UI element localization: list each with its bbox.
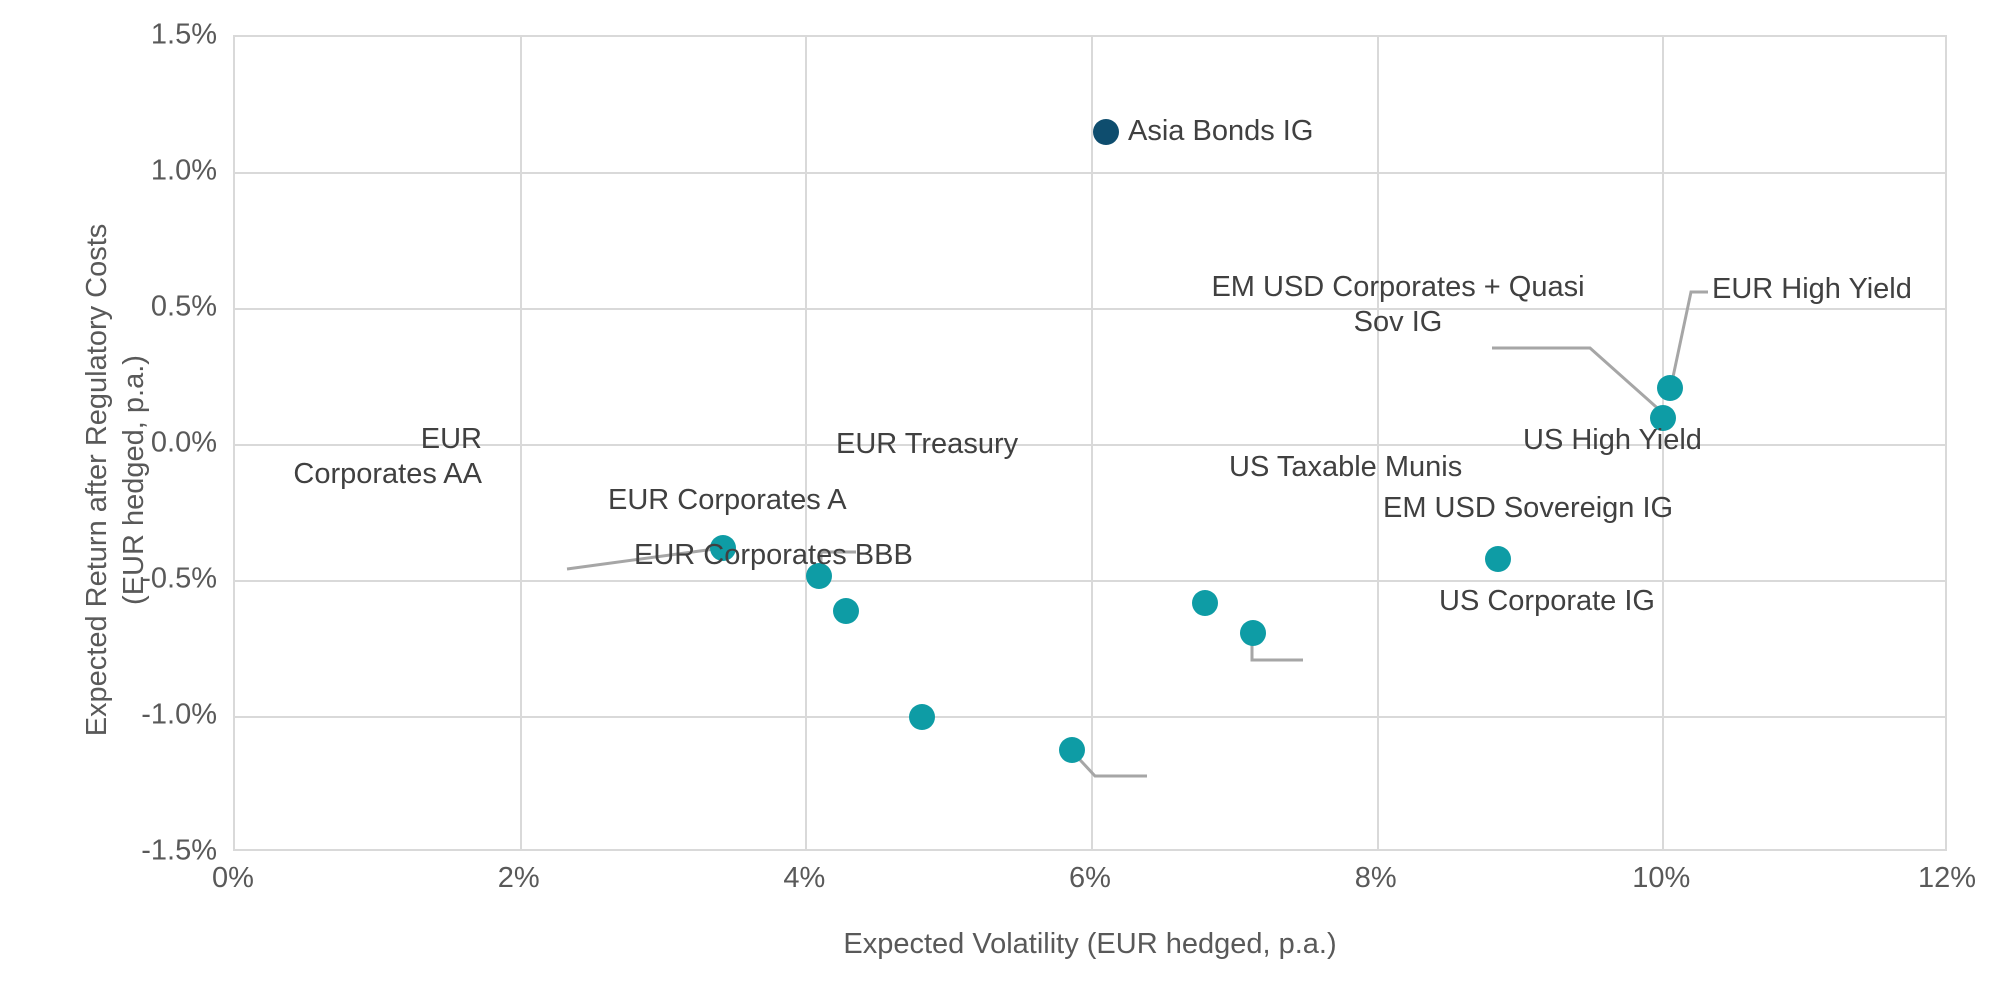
x-axis-tick-label: 10% <box>1571 862 1751 895</box>
gridline-vertical <box>805 37 807 849</box>
data-point-marker[interactable] <box>1657 375 1683 401</box>
x-axis-tick-label: 12% <box>1857 862 1996 895</box>
data-point-marker[interactable] <box>1485 546 1511 572</box>
y-axis-title: Expected Return after Regulatory Costs (… <box>79 72 153 888</box>
x-axis-tick-label: 8% <box>1286 862 1466 895</box>
gridline-vertical <box>520 37 522 849</box>
data-point-marker[interactable] <box>1192 590 1218 616</box>
scatter-chart: Expected Return after Regulatory Costs (… <box>0 0 1996 1005</box>
y-axis-tick-label: 0.0% <box>37 427 217 460</box>
x-axis-tick-label: 4% <box>714 862 894 895</box>
data-point-label: EUR Treasury <box>836 427 1018 462</box>
data-point-label: EUR Corporates A <box>608 483 847 518</box>
x-axis-title: Expected Volatility (EUR hedged, p.a.) <box>233 928 1947 961</box>
data-point-label: EUR Corporates AA <box>282 422 482 492</box>
data-point-marker[interactable] <box>909 704 935 730</box>
gridline-horizontal <box>235 580 1945 582</box>
data-point-label: US High Yield <box>1523 423 1702 458</box>
gridline-horizontal <box>235 172 1945 174</box>
gridline-horizontal <box>235 308 1945 310</box>
data-point-label: EM USD Corporates + Quasi Sov IG <box>1196 270 1600 340</box>
gridline-horizontal <box>235 716 1945 718</box>
x-axis-tick-label: 0% <box>143 862 323 895</box>
x-axis-tick-label: 6% <box>1000 862 1180 895</box>
y-axis-tick-label: -0.5% <box>37 563 217 596</box>
y-axis-tick-label: 1.0% <box>37 155 217 188</box>
data-point-label: EUR Corporates BBB <box>634 538 913 573</box>
y-axis-tick-label: -1.0% <box>37 699 217 732</box>
data-point-label: Asia Bonds IG <box>1128 114 1313 149</box>
gridline-vertical <box>1377 37 1379 849</box>
data-point-marker[interactable] <box>1093 119 1119 145</box>
x-axis-tick-label: 2% <box>429 862 609 895</box>
data-point-label: EM USD Sovereign IG <box>1383 491 1673 526</box>
y-axis-tick-label: 0.5% <box>37 291 217 324</box>
data-point-marker[interactable] <box>1059 737 1085 763</box>
y-axis-tick-label: 1.5% <box>37 19 217 52</box>
data-point-marker[interactable] <box>833 598 859 624</box>
gridline-vertical <box>1091 37 1093 849</box>
data-point-label: US Corporate IG <box>1439 584 1655 619</box>
data-point-label: EUR High Yield <box>1712 272 1912 307</box>
data-point-marker[interactable] <box>1240 620 1266 646</box>
data-point-label: US Taxable Munis <box>1229 450 1462 485</box>
